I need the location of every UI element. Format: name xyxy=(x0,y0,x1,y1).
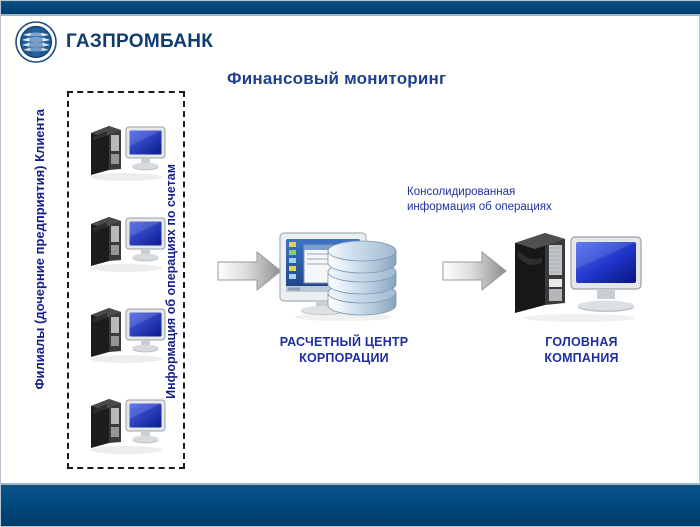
top-bar-divider xyxy=(1,14,700,16)
right-arrow-icon xyxy=(442,280,508,297)
center-node-label-line2: КОРПОРАЦИИ xyxy=(244,350,444,366)
flow-arrow-right xyxy=(442,249,508,298)
slide-canvas: ГАЗПРОМБАНК Финансовый мониторинг Филиал… xyxy=(0,0,700,527)
database-server-icon xyxy=(278,310,408,327)
flow-arrow-left xyxy=(217,249,283,298)
desktop-computer-icon xyxy=(83,443,169,460)
center-node-label-line1: РАСЧЕТНЫЙ ЦЕНТР xyxy=(244,334,444,350)
page-title: Финансовый мониторинг xyxy=(227,69,446,89)
right-node-label-line1: ГОЛОВНАЯ xyxy=(509,334,654,350)
right-node-label-line2: КОМПАНИЯ xyxy=(509,350,654,366)
list-item xyxy=(83,295,169,365)
branches-vertical-label: Филиалы (дочерние предприятия) Клиента xyxy=(32,109,47,390)
desktop-computer-icon xyxy=(83,261,169,278)
right-arrow-icon xyxy=(217,280,283,297)
center-node-icon-wrap xyxy=(278,231,408,323)
list-item xyxy=(83,113,169,183)
list-item xyxy=(83,204,169,274)
right-node-icon-wrap xyxy=(509,229,649,324)
server-tower-monitor-icon xyxy=(509,311,649,328)
desktop-computer-icon xyxy=(83,170,169,187)
right-node-label: ГОЛОВНАЯ КОМПАНИЯ xyxy=(509,334,654,366)
top-bar xyxy=(1,1,700,14)
list-item xyxy=(83,386,169,456)
bottom-bar xyxy=(1,485,700,526)
consolidated-info-label: Консолидированная информация об операция… xyxy=(407,185,557,214)
brand-name: ГАЗПРОМБАНК xyxy=(66,31,213,53)
center-node-label: РАСЧЕТНЫЙ ЦЕНТР КОРПОРАЦИИ xyxy=(244,334,444,366)
gazprombank-globe-icon xyxy=(15,21,57,63)
desktop-computer-icon xyxy=(83,352,169,369)
brand-logo: ГАЗПРОМБАНК xyxy=(15,21,213,63)
